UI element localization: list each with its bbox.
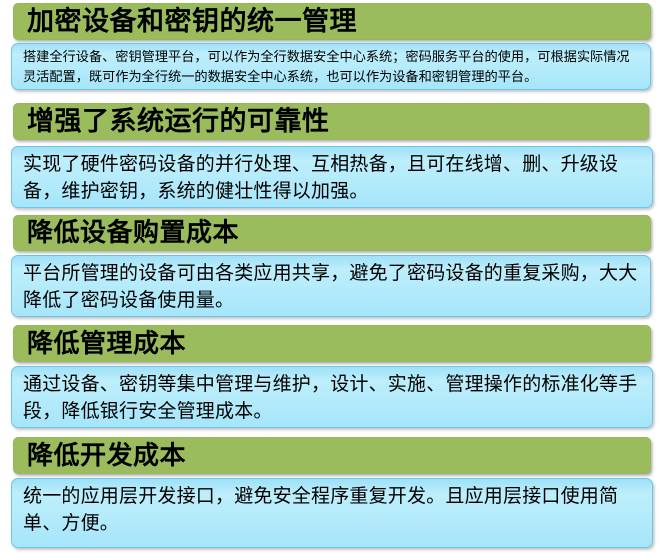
section-body-text-3: 平台所管理的设备可由各类应用共享，避免了密码设备的重复采购，大大降低了密码设备使… [23,260,640,314]
slide-canvas: 加密设备和密钥的统一管理 搭建全行设备、密钥管理平台，可以作为全行数据安全中心系… [0,0,662,553]
section-heading-bar-4[interactable]: 降低管理成本 [13,325,651,362]
section-heading-text-4: 降低管理成本 [27,330,186,357]
section-heading-text-5: 降低开发成本 [27,442,186,469]
section-body-text-1: 搭建全行设备、密钥管理平台，可以作为全行数据安全中心系统；密码服务平台的使用，可… [23,48,640,87]
section-body-box-1[interactable]: 搭建全行设备、密钥管理平台，可以作为全行数据安全中心系统；密码服务平台的使用，可… [11,43,651,90]
section-heading-bar-2[interactable]: 增强了系统运行的可靠性 [13,103,649,140]
section-heading-text-2: 增强了系统运行的可靠性 [27,107,330,135]
section-body-box-4[interactable]: 通过设备、密钥等集中管理与维护，设计、实施、管理操作的标准化等手段，降低银行安全… [11,366,653,428]
section-heading-text-1: 加密设备和密钥的统一管理 [27,7,357,35]
section-body-box-3[interactable]: 平台所管理的设备可由各类应用共享，避免了密码设备的重复采购，大大降低了密码设备使… [11,255,651,317]
section-heading-bar-3[interactable]: 降低设备购置成本 [13,215,651,251]
section-body-box-5[interactable]: 统一的应用层开发接口，避免安全程序重复开发。且应用层接口使用简单、方便。 [11,478,653,548]
section-heading-bar-1[interactable]: 加密设备和密钥的统一管理 [13,3,651,40]
section-heading-text-3: 降低设备购置成本 [27,219,239,246]
section-heading-bar-5[interactable]: 降低开发成本 [13,437,651,474]
section-body-box-2[interactable]: 实现了硬件密码设备的并行处理、互相热备，且可在线增、删、升级设备，维护密钥，系统… [11,146,653,208]
section-body-text-2: 实现了硬件密码设备的并行处理、互相热备，且可在线增、删、升级设备，维护密钥，系统… [23,151,642,205]
section-body-text-5: 统一的应用层开发接口，避免安全程序重复开发。且应用层接口使用简单、方便。 [23,483,642,537]
section-body-text-4: 通过设备、密钥等集中管理与维护，设计、实施、管理操作的标准化等手段，降低银行安全… [23,371,642,425]
